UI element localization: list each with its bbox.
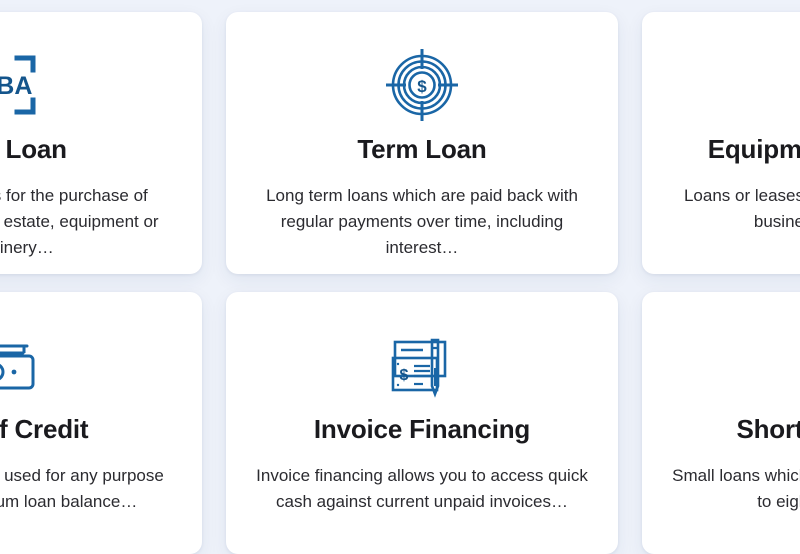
svg-text:$: $: [417, 77, 427, 96]
loan-card-title: Line of Credit: [0, 414, 88, 445]
loan-card-description: Funds which can be used for any purpose …: [0, 463, 174, 515]
loan-card-title: SBA Loan: [0, 134, 67, 165]
svg-text:$: $: [400, 367, 409, 384]
loan-card-term-loan[interactable]: $ Term Loan Long term loans which are pa…: [226, 12, 618, 274]
svg-text:SBA: SBA: [0, 72, 32, 100]
dollar-target-icon: $: [385, 48, 459, 122]
loan-card-sba-loan[interactable]: SBA SBA Loan Low interest loans for the …: [0, 12, 202, 274]
wallet-cards-icon: [0, 328, 43, 402]
loan-card-invoice-financing[interactable]: $ Invoice Financing Invoice financing al…: [226, 292, 618, 554]
loan-card-short-term-loan[interactable]: Short Term Loan Small loans which are ty…: [642, 292, 800, 554]
sba-bracket-icon: SBA: [0, 48, 43, 122]
loan-card-title: Invoice Financing: [314, 414, 530, 445]
loan-card-title: Term Loan: [357, 134, 486, 165]
loan-card-description: Small loans which are typically repaid i…: [670, 463, 800, 515]
loan-card-line-of-credit[interactable]: Line of Credit Funds which can be used f…: [0, 292, 202, 554]
loan-card-description: Long term loans which are paid back with…: [254, 183, 590, 261]
loan-card-description: Low interest loans for the purchase of a…: [0, 183, 174, 261]
loan-card-title: Equipment Financing: [708, 134, 800, 165]
loan-products-grid: SBA SBA Loan Low interest loans for the …: [0, 12, 800, 554]
loan-card-equipment-financing[interactable]: Equipment Financing Loans or leases used…: [642, 12, 800, 274]
loan-card-description: Loans or leases used for the purchase of…: [670, 183, 800, 235]
loan-card-description: Invoice financing allows you to access q…: [254, 463, 590, 515]
check-pen-icon: $: [385, 328, 459, 402]
loan-card-title: Short Term Loan: [736, 414, 800, 445]
